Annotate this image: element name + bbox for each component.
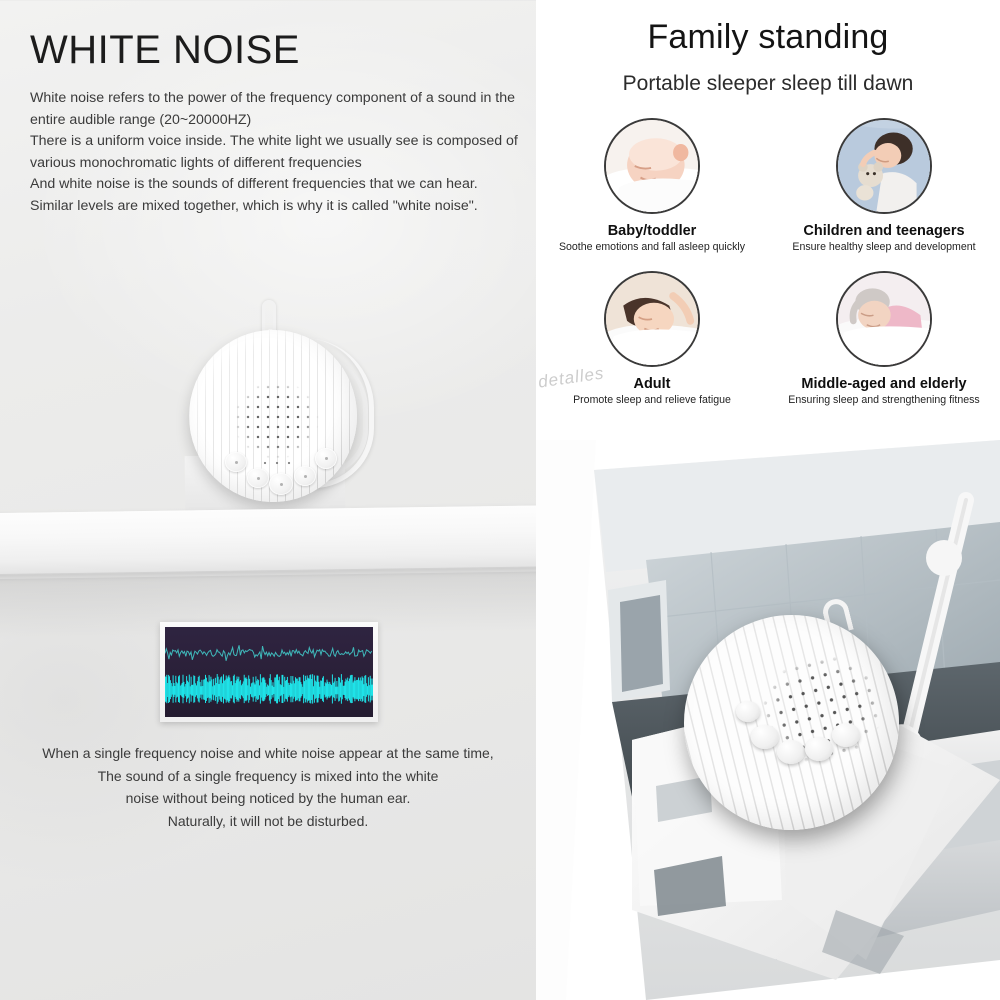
child-teddy-illustration bbox=[838, 120, 930, 212]
device-button-5 bbox=[315, 448, 337, 469]
description-line: White noise refers to the power of the f… bbox=[30, 88, 520, 110]
feature-name: Adult bbox=[536, 376, 768, 392]
feature-row: Adult Promote sleep and relieve fatigue bbox=[536, 271, 1000, 406]
waveform-svg bbox=[165, 627, 373, 717]
feature-desc: Promote sleep and relieve fatigue bbox=[536, 394, 768, 406]
indicator-led-dots bbox=[259, 461, 293, 465]
caption-line: The sound of a single frequency is mixed… bbox=[18, 765, 518, 788]
caption-line: noise without being noticed by the human… bbox=[18, 787, 518, 810]
feature-item-baby: Baby/toddler Soothe emotions and fall as… bbox=[536, 118, 768, 253]
white-noise-wave bbox=[165, 674, 373, 704]
waveform-caption: When a single frequency noise and white … bbox=[18, 742, 518, 833]
feature-grid: Baby/toddler Soothe emotions and fall as… bbox=[536, 118, 1000, 406]
device-button-2 bbox=[247, 468, 269, 488]
feature-item-children: Children and teenagers Ensure healthy sl… bbox=[768, 118, 1000, 253]
caption-line: Naturally, it will not be disturbed. bbox=[18, 810, 518, 833]
feature-name: Children and teenagers bbox=[768, 223, 1000, 239]
speaker-grille bbox=[233, 382, 319, 458]
white-noise-description: White noise refers to the power of the f… bbox=[30, 88, 520, 217]
feature-name: Baby/toddler bbox=[536, 223, 768, 239]
device-button-5 bbox=[832, 723, 860, 747]
feature-desc: Soothe emotions and fall asleep quickly bbox=[536, 241, 768, 253]
waveform-frame bbox=[160, 622, 378, 722]
sleeping-child-with-teddy-photo bbox=[836, 118, 932, 214]
feature-desc: Ensure healthy sleep and development bbox=[768, 241, 1000, 253]
section-subtitle: Portable sleeper sleep till dawn bbox=[536, 72, 1000, 96]
caption-line: When a single frequency noise and white … bbox=[18, 742, 518, 765]
section-title: Family standing bbox=[536, 18, 1000, 57]
device-button-2 bbox=[751, 725, 779, 749]
description-line: There is a uniform voice inside. The whi… bbox=[30, 131, 520, 153]
feature-row: Baby/toddler Soothe emotions and fall as… bbox=[536, 118, 1000, 253]
product-infographic-page: WHITE NOISE White noise refers to the po… bbox=[0, 0, 1000, 1000]
page-title: WHITE NOISE bbox=[30, 30, 300, 70]
device-button-power bbox=[777, 740, 805, 764]
feature-item-elderly: Middle-aged and elderly Ensuring sleep a… bbox=[768, 271, 1000, 406]
shelf-ledge bbox=[0, 499, 536, 575]
device-button-4 bbox=[805, 737, 833, 761]
sleeping-adult-woman-photo bbox=[604, 271, 700, 367]
right-panel: Family standing Portable sleeper sleep t… bbox=[536, 0, 1000, 1000]
device-button-4 bbox=[294, 466, 316, 486]
sound-machine-device bbox=[189, 330, 357, 502]
sleeping-baby-photo bbox=[604, 118, 700, 214]
feature-name: Middle-aged and elderly bbox=[768, 376, 1000, 392]
feature-item-adult: Adult Promote sleep and relieve fatigue bbox=[536, 271, 768, 406]
feature-desc: Ensuring sleep and strengthening fitness bbox=[768, 394, 1000, 406]
description-line: Similar levels are mixed together, which… bbox=[30, 196, 520, 218]
device-button-1 bbox=[225, 452, 247, 472]
adult-illustration bbox=[606, 273, 698, 365]
device-button-power bbox=[269, 473, 293, 495]
wall-seam bbox=[0, 0, 536, 1]
product-photo-hanging bbox=[186, 300, 362, 510]
single-frequency-wave bbox=[165, 645, 372, 661]
lifestyle-scene-photo: UNA Este dich que E bbox=[536, 440, 1000, 1000]
description-line: entire audible range (20~20000HZ) bbox=[30, 110, 520, 132]
baby-illustration bbox=[606, 120, 698, 212]
left-panel: WHITE NOISE White noise refers to the po… bbox=[0, 0, 536, 1000]
waveform-display bbox=[165, 627, 373, 717]
description-line: various monochromatic lights of differen… bbox=[30, 153, 520, 175]
device-button-1 bbox=[736, 701, 760, 722]
sleeping-elderly-woman-photo bbox=[836, 271, 932, 367]
product-photo-on-magazine bbox=[684, 615, 899, 830]
description-line: And white noise is the sounds of differe… bbox=[30, 174, 520, 196]
elderly-illustration bbox=[838, 273, 930, 365]
